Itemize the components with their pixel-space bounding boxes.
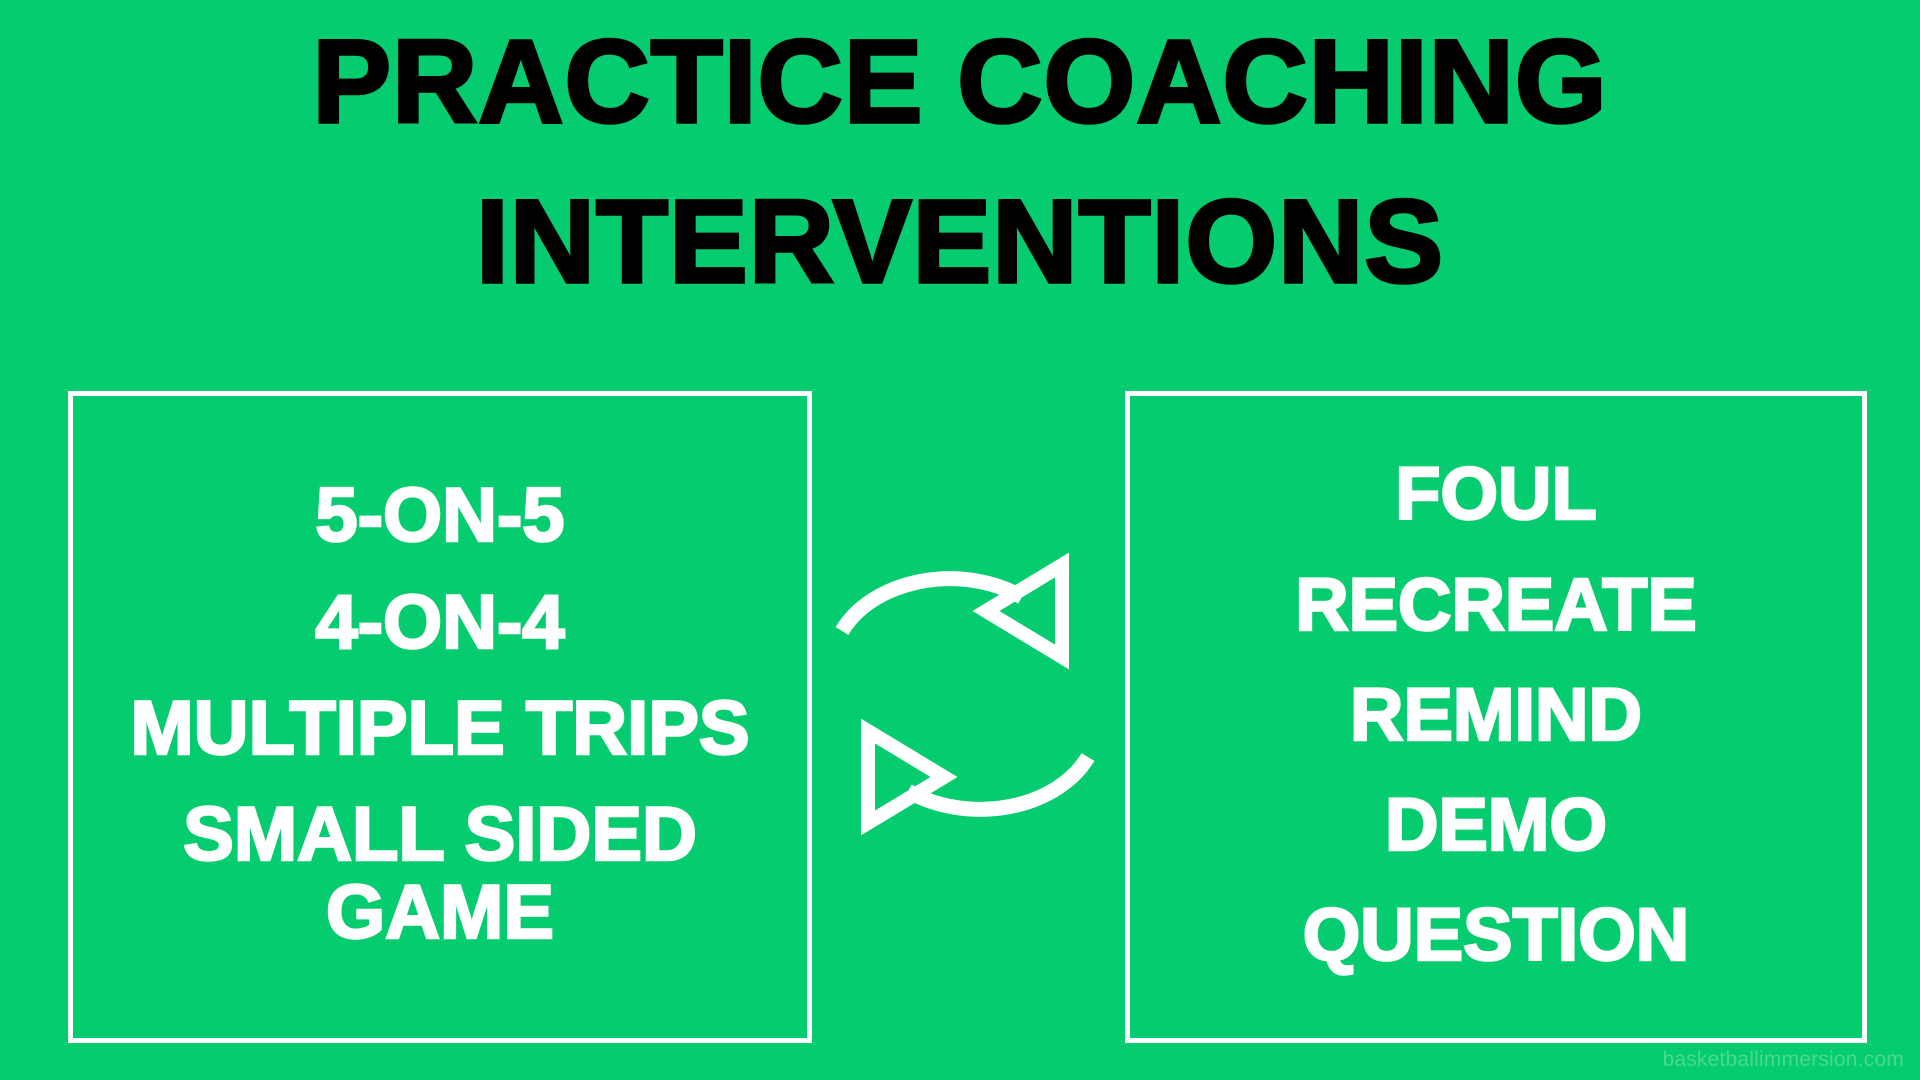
practice-format-item: SMALL SIDED GAME — [87, 796, 793, 953]
page-title: PRACTICE COACHING INTERVENTIONS — [0, 8, 1920, 316]
site-watermark: basketballimmersion.com — [1662, 1048, 1904, 1072]
practice-formats-panel: 5-ON-5 4-ON-4 MULTIPLE TRIPS SMALL SIDED… — [68, 391, 812, 1043]
page-title-line-1: PRACTICE COACHING — [0, 8, 1920, 156]
intervention-item: REMIND — [1144, 677, 1848, 753]
practice-format-item: MULTIPLE TRIPS — [87, 690, 793, 768]
practice-format-item: 5-ON-5 — [87, 477, 793, 555]
intervention-item: DEMO — [1144, 787, 1848, 863]
infographic-canvas: PRACTICE COACHING INTERVENTIONS 5-ON-5 4… — [0, 0, 1920, 1080]
practice-format-item: 4-ON-4 — [87, 584, 793, 662]
intervention-item: FOUL — [1144, 456, 1848, 532]
page-title-line-2: INTERVENTIONS — [0, 168, 1920, 316]
intervention-item: RECREATE — [1144, 567, 1848, 643]
coaching-interventions-panel: FOUL RECREATE REMIND DEMO QUESTION — [1125, 391, 1867, 1043]
intervention-item: QUESTION — [1144, 897, 1848, 973]
circular-sync-arrows-icon — [826, 545, 1106, 845]
